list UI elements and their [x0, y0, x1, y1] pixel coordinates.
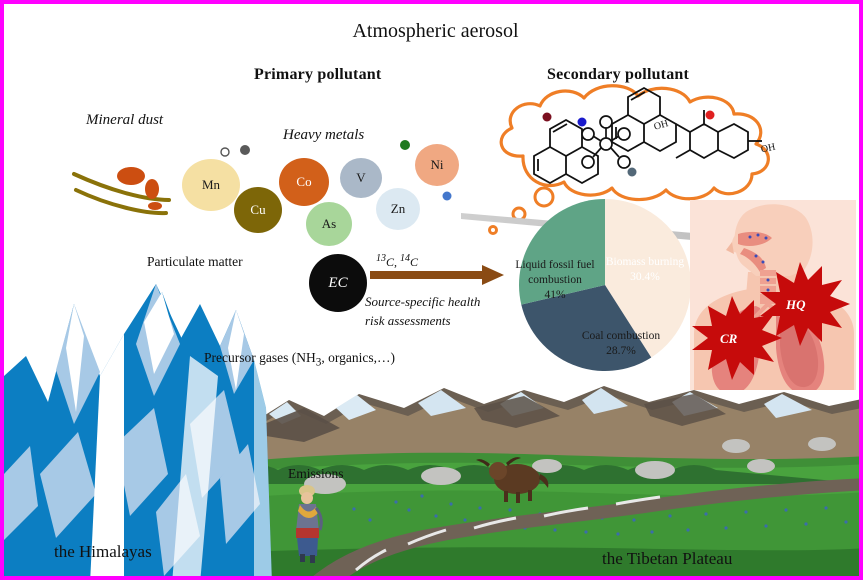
metal-bubble-cu [234, 187, 282, 233]
isotope-14-superscript: 14 [400, 253, 410, 264]
mineral-dust-glyph [74, 167, 169, 213]
page-title: Atmospheric aerosol [4, 20, 863, 43]
risk-line-2: risk assessments [365, 312, 480, 331]
himalaya-peaks [4, 284, 272, 580]
gray-dot [240, 145, 250, 155]
tibetan-plateau-label: the Tibetan Plateau [602, 549, 732, 569]
source-apportionment-pie-chart [519, 199, 691, 371]
precursor-text-tail: , organics,…) [321, 350, 395, 365]
blue-dot [443, 192, 452, 201]
cr-badge-label: CR [720, 331, 737, 347]
isotope-c1: C, [386, 255, 400, 269]
risk-assessment-label: Source-specific health risk assessments [365, 293, 480, 331]
ec-label: EC [309, 272, 367, 294]
heavy-metals-label: Heavy metals [283, 127, 364, 144]
cloud-dot-2 [706, 111, 715, 120]
metal-bubble-co [279, 158, 329, 206]
metal-bubble-zn [376, 188, 420, 230]
cloud-dot-1 [578, 118, 587, 127]
green-dot [400, 140, 410, 150]
metal-bubble-ni [415, 144, 459, 186]
isotope-c2: C [410, 255, 418, 269]
cloud-dot-3 [628, 168, 637, 177]
hollow-dot [221, 148, 229, 156]
isotope-13-superscript: 13 [376, 253, 386, 264]
precursor-gases-label: Precursor gases (NH3, organics,…) [204, 350, 395, 370]
heavy-metal-bubble-group [182, 144, 459, 246]
himalayas-label: the Himalayas [54, 542, 152, 562]
illustration-svg [4, 4, 863, 580]
secondary-pollutant-cloud [501, 86, 768, 200]
precursor-text-head: Precursor gases (NH [204, 350, 316, 365]
hq-badge-label: HQ [786, 297, 806, 313]
cloud-dot-0 [543, 113, 552, 122]
metal-bubble-as [306, 202, 352, 246]
secondary-pollutant-label: Secondary pollutant [547, 66, 689, 84]
emissions-label: Emissions [288, 466, 344, 482]
metal-bubble-mn [182, 159, 240, 211]
primary-pollutant-label: Primary pollutant [254, 66, 381, 84]
isotope-tracer-label: 13C, 14C [376, 253, 418, 270]
mineral-dust-label: Mineral dust [86, 112, 163, 129]
risk-line-1: Source-specific health [365, 293, 480, 312]
particulate-matter-label: Particulate matter [147, 254, 243, 270]
figure-canvas: Atmospheric aerosol Primary pollutant Se… [0, 0, 863, 580]
metal-bubble-v [340, 158, 382, 198]
